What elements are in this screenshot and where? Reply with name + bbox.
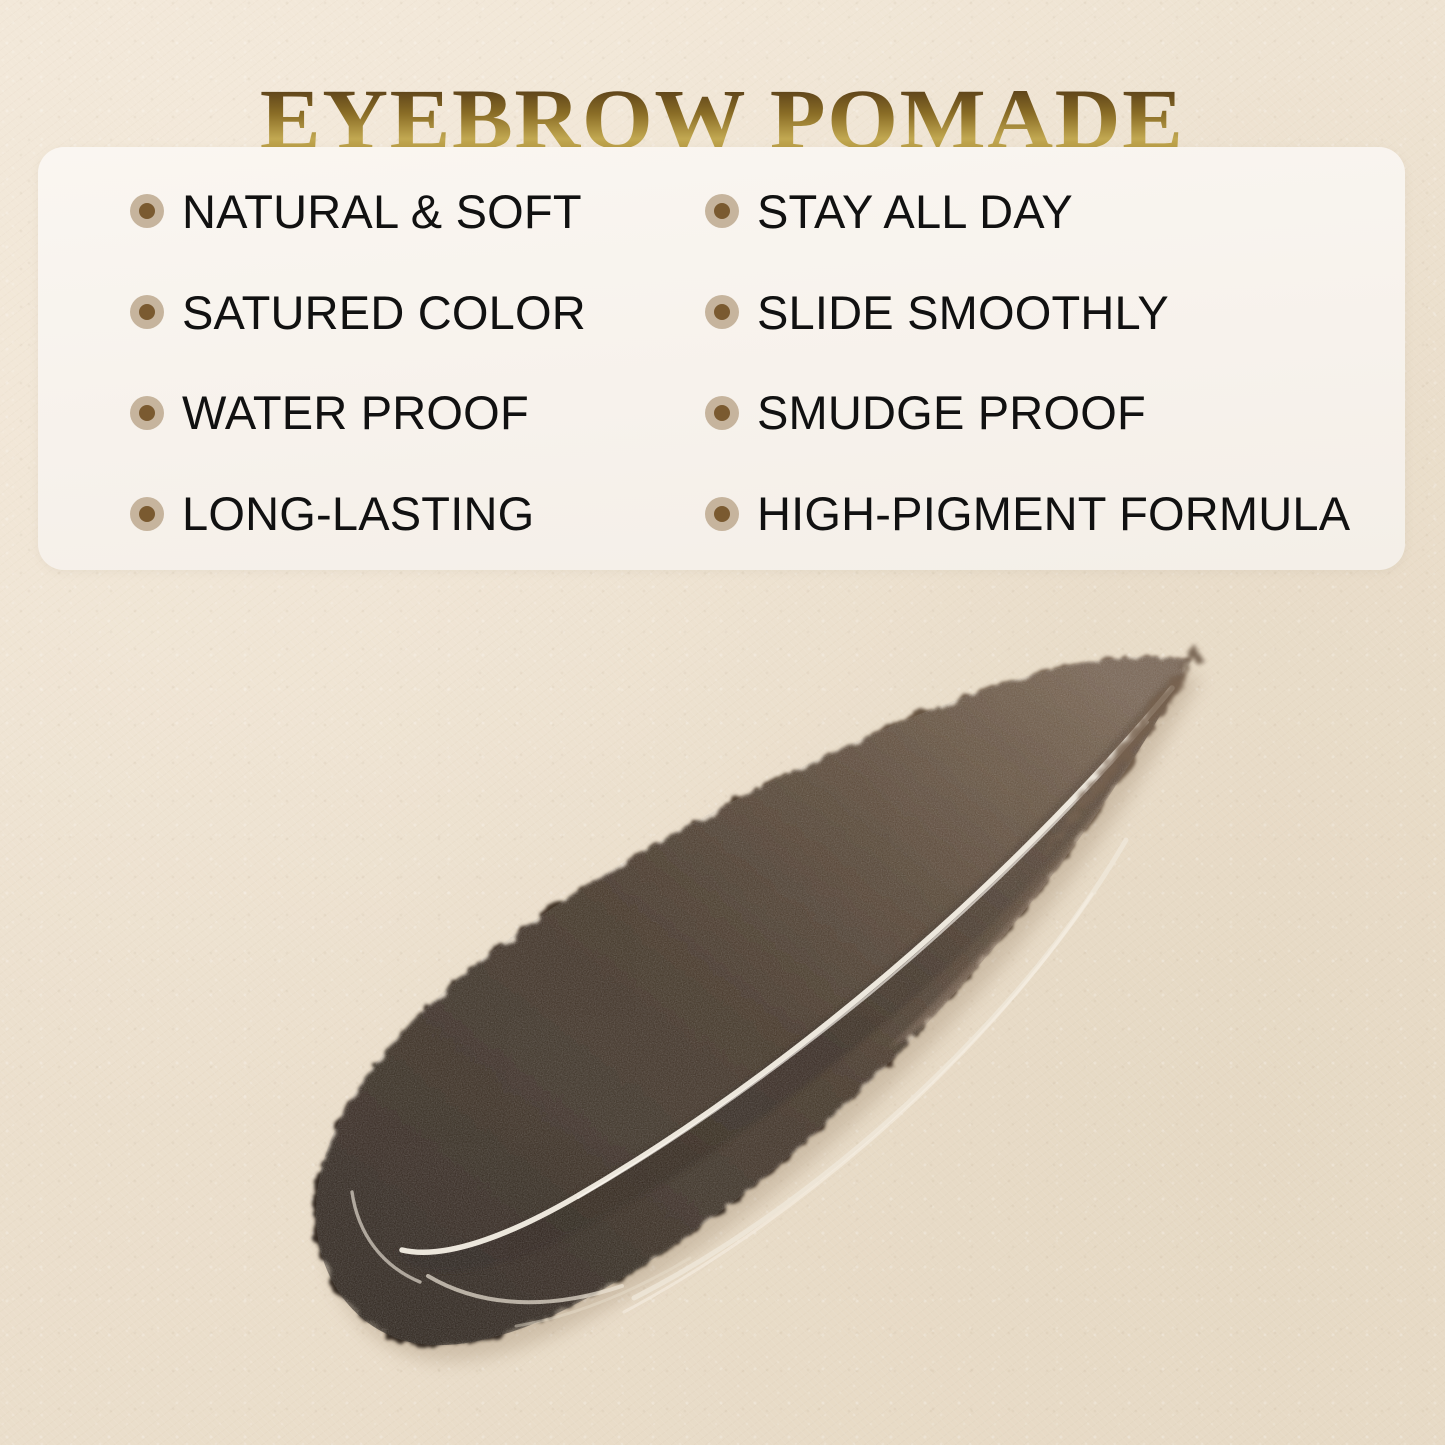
feature-grid: NATURAL & SOFT STAY ALL DAY SATURED COLO… [38, 147, 1405, 570]
feature-item-slide-smoothly: SLIDE SMOOTHLY [705, 262, 1405, 363]
bullet-dot-icon [130, 497, 164, 531]
feature-item-high-pigment-formula: HIGH-PIGMENT FORMULA [705, 463, 1405, 564]
feature-item-natural-soft: NATURAL & SOFT [38, 161, 705, 262]
swatch-shading [286, 626, 1226, 1416]
feature-list-card: NATURAL & SOFT STAY ALL DAY SATURED COLO… [38, 147, 1405, 570]
pomade-swatch-graphic [286, 626, 1226, 1416]
pomade-swatch-image [286, 626, 1226, 1416]
bullet-dot-icon [130, 396, 164, 430]
product-infographic: EYEBROW POMADE NATURAL & SOFT STAY ALL D… [0, 0, 1445, 1445]
bullet-dot-icon [705, 396, 739, 430]
bullet-dot-icon [130, 295, 164, 329]
feature-label: LONG-LASTING [182, 490, 534, 537]
feature-label: SLIDE SMOOTHLY [757, 289, 1169, 336]
feature-label: STAY ALL DAY [757, 188, 1073, 235]
bullet-dot-icon [130, 194, 164, 228]
feature-item-water-proof: WATER PROOF [38, 363, 705, 464]
feature-item-smudge-proof: SMUDGE PROOF [705, 363, 1405, 464]
feature-item-long-lasting: LONG-LASTING [38, 463, 705, 564]
feature-label: SMUDGE PROOF [757, 389, 1146, 436]
product-swatch-area [0, 590, 1445, 1445]
bullet-dot-icon [705, 295, 739, 329]
feature-item-satured-color: SATURED COLOR [38, 262, 705, 363]
feature-label: NATURAL & SOFT [182, 188, 582, 235]
feature-item-stay-all-day: STAY ALL DAY [705, 161, 1405, 262]
feature-label: WATER PROOF [182, 389, 529, 436]
feature-label: SATURED COLOR [182, 289, 586, 336]
feature-label: HIGH-PIGMENT FORMULA [757, 490, 1350, 537]
bullet-dot-icon [705, 194, 739, 228]
bullet-dot-icon [705, 497, 739, 531]
